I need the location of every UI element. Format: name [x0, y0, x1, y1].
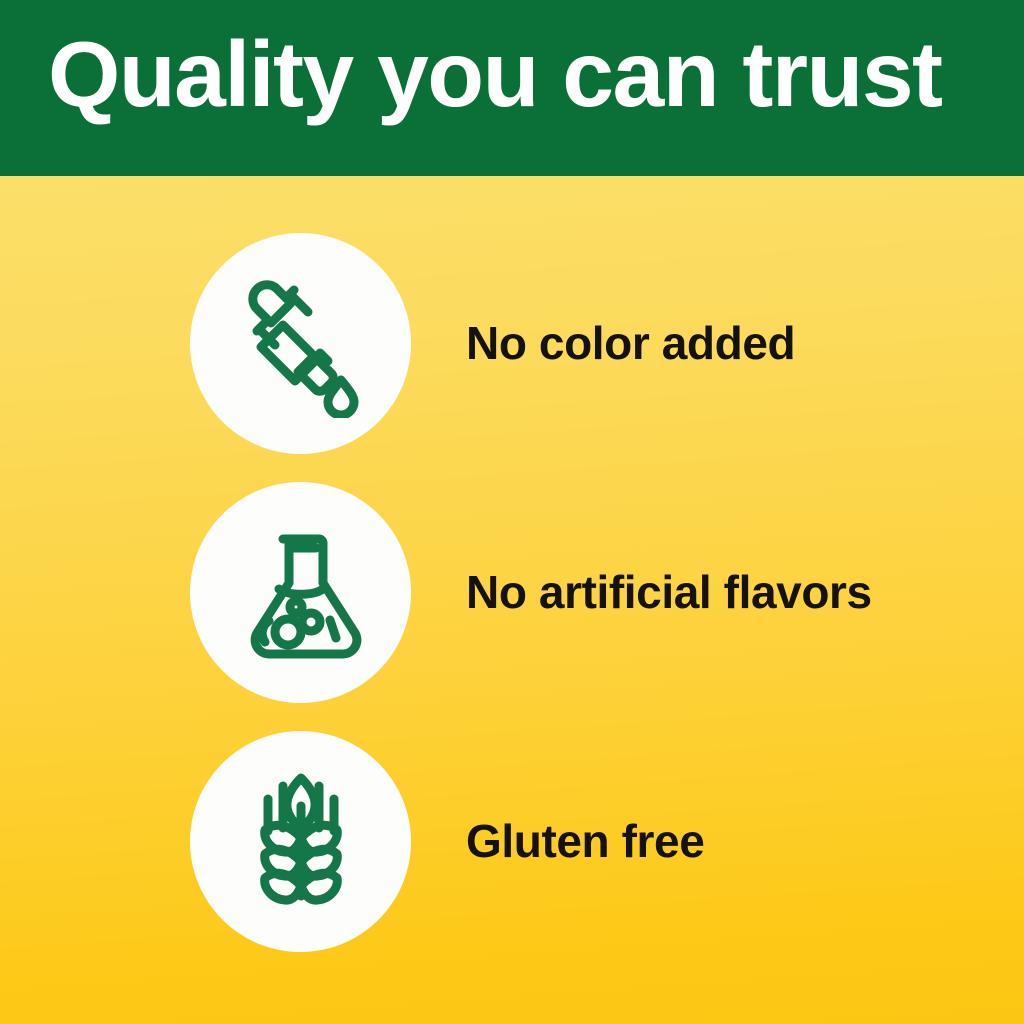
icon-badge [190, 233, 411, 454]
feature-label: No artificial flavors [466, 565, 872, 619]
feature-list: No color added [0, 176, 1024, 1024]
feature-label: Gluten free [466, 814, 704, 868]
feature-row: No artificial flavors [0, 481, 1024, 703]
dropper-icon [226, 268, 376, 418]
feature-row: No color added [0, 232, 1024, 454]
page-title: Quality you can trust [48, 28, 942, 121]
icon-badge [190, 482, 411, 703]
icon-badge [190, 731, 411, 952]
feature-label: No color added [466, 316, 795, 370]
quality-claims-poster: Quality you can trust [0, 0, 1024, 1024]
wheat-icon [226, 766, 376, 916]
flask-icon [226, 517, 376, 667]
header-band: Quality you can trust [0, 0, 1024, 176]
feature-row: Gluten free [0, 730, 1024, 952]
